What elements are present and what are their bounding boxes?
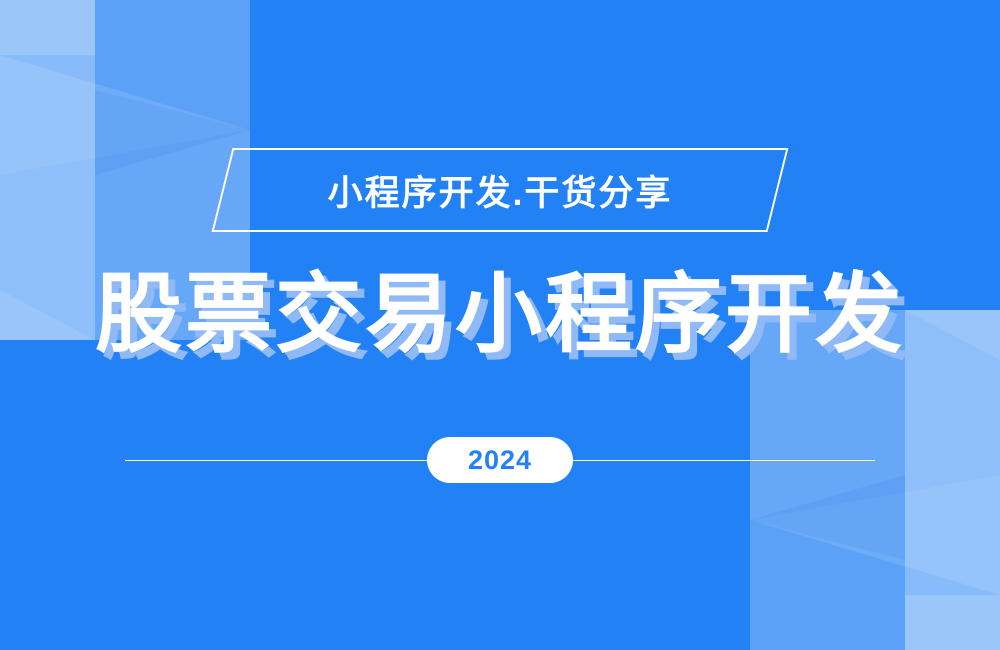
year-badge: 2024	[427, 437, 573, 483]
deco-shape-bottom-right-triangle-lower	[750, 475, 1000, 595]
deco-shape-bottom-right-pale-lower	[905, 595, 1000, 650]
year-block: 2024	[0, 437, 1000, 483]
subtitle-block: 小程序开发.干货分享	[0, 148, 1000, 236]
subtitle-text: 小程序开发.干货分享	[0, 148, 1000, 232]
promotional-banner: 小程序开发.干货分享 股票交易小程序开发 2024	[0, 0, 1000, 650]
page-title: 股票交易小程序开发	[95, 271, 905, 358]
year-rule-right	[565, 460, 875, 461]
year-label: 2024	[468, 445, 532, 476]
deco-shape-bottom-right-arrow	[750, 475, 905, 560]
deco-shape-top-left-wedge-upper	[0, 0, 95, 55]
year-rule-left	[125, 460, 435, 461]
title-block: 股票交易小程序开发	[0, 258, 1000, 370]
